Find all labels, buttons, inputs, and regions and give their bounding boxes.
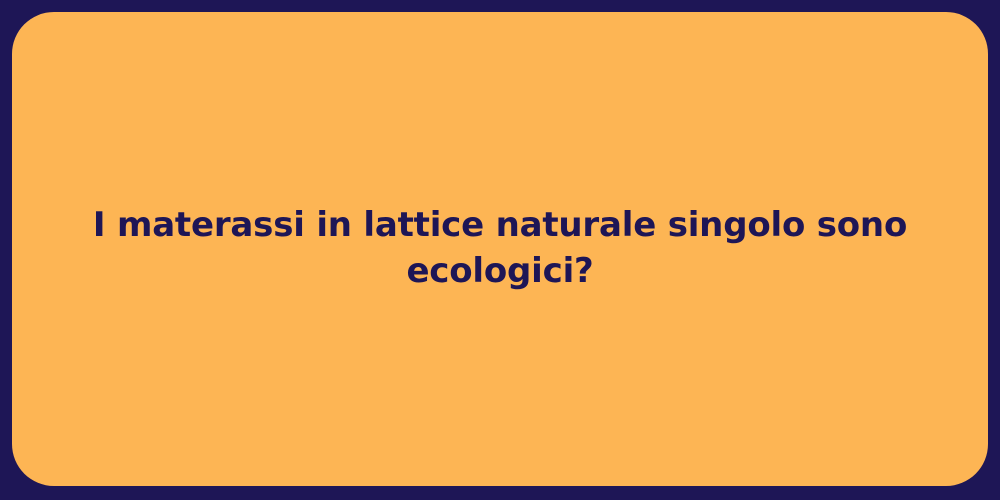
- content-card: I materassi in lattice naturale singolo …: [12, 12, 988, 486]
- page-title: I materassi in lattice naturale singolo …: [36, 203, 964, 295]
- page-background: I materassi in lattice naturale singolo …: [0, 0, 1000, 500]
